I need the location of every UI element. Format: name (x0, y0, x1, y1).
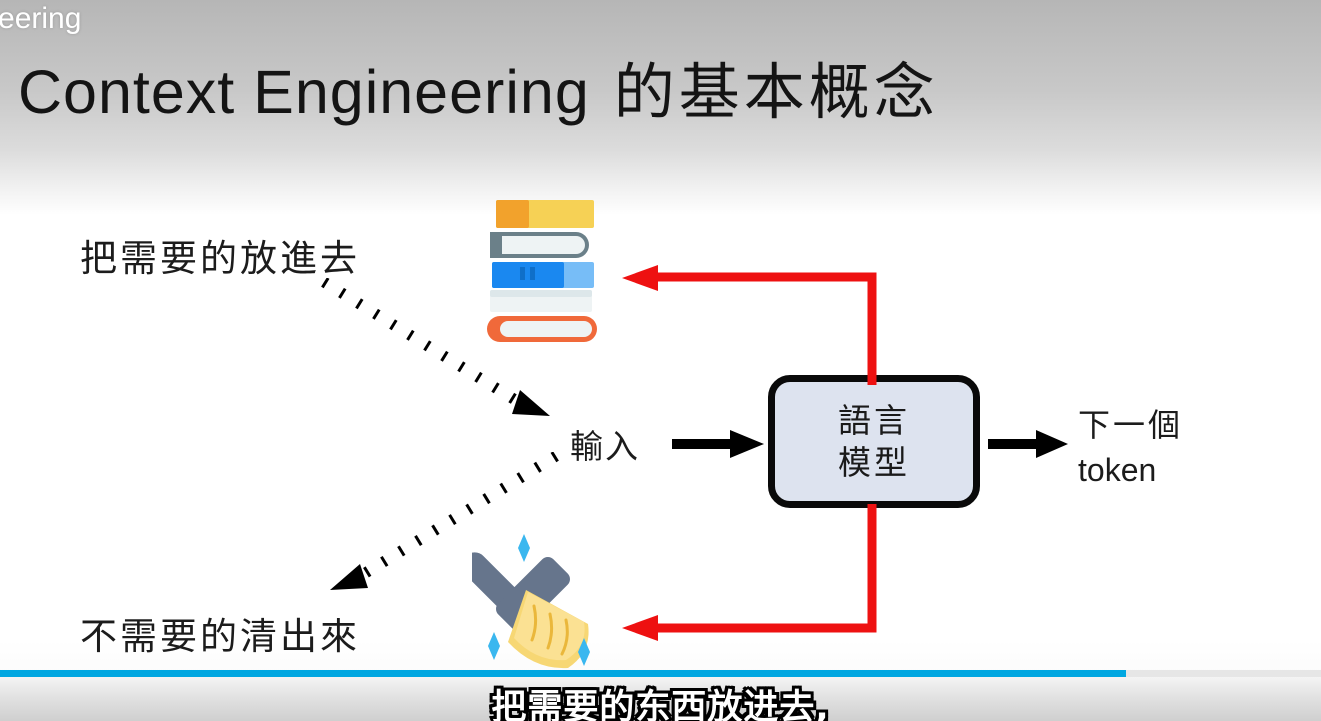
arrow-model-to-output (988, 428, 1068, 465)
caption-strip: 把需要的东西放进去, (0, 677, 1321, 721)
page-title-cjk: 的基本概念 (614, 57, 939, 128)
label-next-token-line2: token (1078, 448, 1183, 493)
video-progress-track[interactable] (0, 670, 1321, 677)
language-model-line1: 語言 (838, 400, 910, 442)
slide-canvas: gineering Context Engineering的基本概念 把需要的放… (0, 0, 1321, 673)
arrow-input-to-model (672, 428, 764, 465)
red-feedback-arrow-to-broom (620, 500, 900, 650)
page-title-latin: Context Engineering (18, 58, 590, 126)
red-feedback-arrow-to-books (620, 265, 900, 400)
label-clear-out: 不需要的清出來 (80, 606, 360, 660)
language-model-line2: 模型 (838, 442, 910, 484)
label-input: 輸入 (570, 420, 640, 468)
label-put-in: 把需要的放進去 (80, 228, 360, 282)
label-next-token: 下一個 token (1078, 403, 1183, 493)
dotted-arrow-put-in (320, 278, 560, 433)
dotted-arrow-clear-out (320, 452, 560, 607)
label-next-token-line1: 下一個 (1078, 403, 1183, 448)
caption-text: 把需要的东西放进去, (0, 679, 1321, 721)
page-title: Context Engineering的基本概念 (18, 42, 939, 131)
player-title-overlay: gineering (0, 2, 81, 36)
video-player-screenshot: gineering Context Engineering的基本概念 把需要的放… (0, 0, 1321, 721)
video-progress-fill[interactable] (0, 670, 1126, 677)
